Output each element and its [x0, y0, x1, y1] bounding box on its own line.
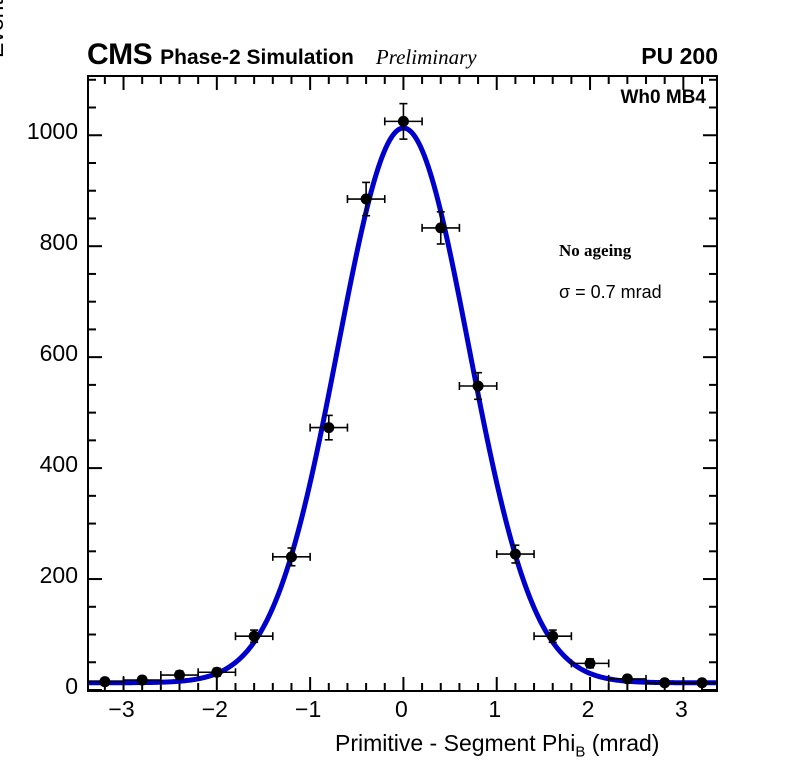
- data-marker: [174, 670, 185, 681]
- x-axis-title-base: Primitive - Segment Phi: [335, 730, 575, 756]
- data-point: [89, 676, 124, 687]
- data-point: [683, 677, 716, 688]
- x-axis-title-subscript: B: [575, 743, 585, 760]
- data-point: [273, 548, 310, 566]
- data-marker: [697, 677, 708, 688]
- cms-header: CMS Phase-2 Simulation Preliminary PU 20…: [87, 40, 718, 72]
- gaussian-fit-curve: [89, 128, 716, 683]
- sigma-note: σ = 0.7 mrad: [559, 282, 662, 303]
- data-marker: [286, 551, 297, 562]
- plot-area: [89, 77, 716, 690]
- detector-label: Wh0 MB4: [621, 87, 707, 109]
- tick-marks: [89, 77, 716, 690]
- x-tick-label: 1: [488, 696, 501, 723]
- data-point: [459, 373, 496, 400]
- data-marker: [99, 676, 110, 687]
- y-tick-label: 1000: [27, 118, 78, 145]
- x-tick-label: −1: [295, 696, 321, 723]
- data-marker: [547, 631, 558, 642]
- data-point: [235, 630, 272, 642]
- plot-frame: Wh0 MB4 No ageing σ = 0.7 mrad: [87, 75, 718, 692]
- data-point: [497, 545, 534, 563]
- y-tick-label: 400: [40, 451, 78, 478]
- data-marker: [361, 194, 372, 205]
- x-tick-label: −3: [108, 696, 134, 723]
- data-point: [422, 212, 459, 244]
- cms-subtitle: Phase-2 Simulation: [160, 47, 354, 68]
- cms-logo: CMS: [87, 40, 152, 70]
- y-tick-label: 800: [40, 229, 78, 256]
- cms-preliminary-label: Preliminary: [376, 47, 477, 68]
- x-axis-title-unit: (mrad): [585, 730, 659, 756]
- data-marker: [622, 673, 633, 684]
- y-tick-label: 200: [40, 562, 78, 589]
- data-marker: [398, 116, 409, 127]
- x-axis-title: Primitive - Segment PhiB (mrad): [335, 730, 659, 760]
- data-marker: [137, 675, 148, 686]
- x-tick-label: 0: [395, 696, 408, 723]
- data-point: [534, 630, 571, 642]
- x-tick-label: 2: [582, 696, 595, 723]
- pileup-label: PU 200: [641, 45, 718, 68]
- y-tick-label: 600: [40, 340, 78, 367]
- data-marker: [323, 422, 334, 433]
- data-marker: [435, 222, 446, 233]
- data-point: [646, 677, 683, 688]
- data-marker: [473, 380, 484, 391]
- data-marker: [659, 677, 670, 688]
- data-point: [310, 415, 347, 439]
- ageing-note: No ageing: [559, 241, 631, 261]
- data-marker: [510, 549, 521, 560]
- data-marker: [585, 658, 596, 669]
- data-points-group: [89, 104, 716, 689]
- plot-canvas: CMS Phase-2 Simulation Preliminary PU 20…: [0, 0, 796, 772]
- y-tick-label: 0: [65, 673, 78, 700]
- data-marker: [211, 667, 222, 678]
- y-axis-title: Events: [0, 0, 9, 58]
- data-point: [385, 104, 422, 140]
- data-marker: [249, 631, 260, 642]
- x-tick-label: 3: [675, 696, 688, 723]
- data-point: [347, 182, 384, 215]
- x-tick-label: −2: [202, 696, 228, 723]
